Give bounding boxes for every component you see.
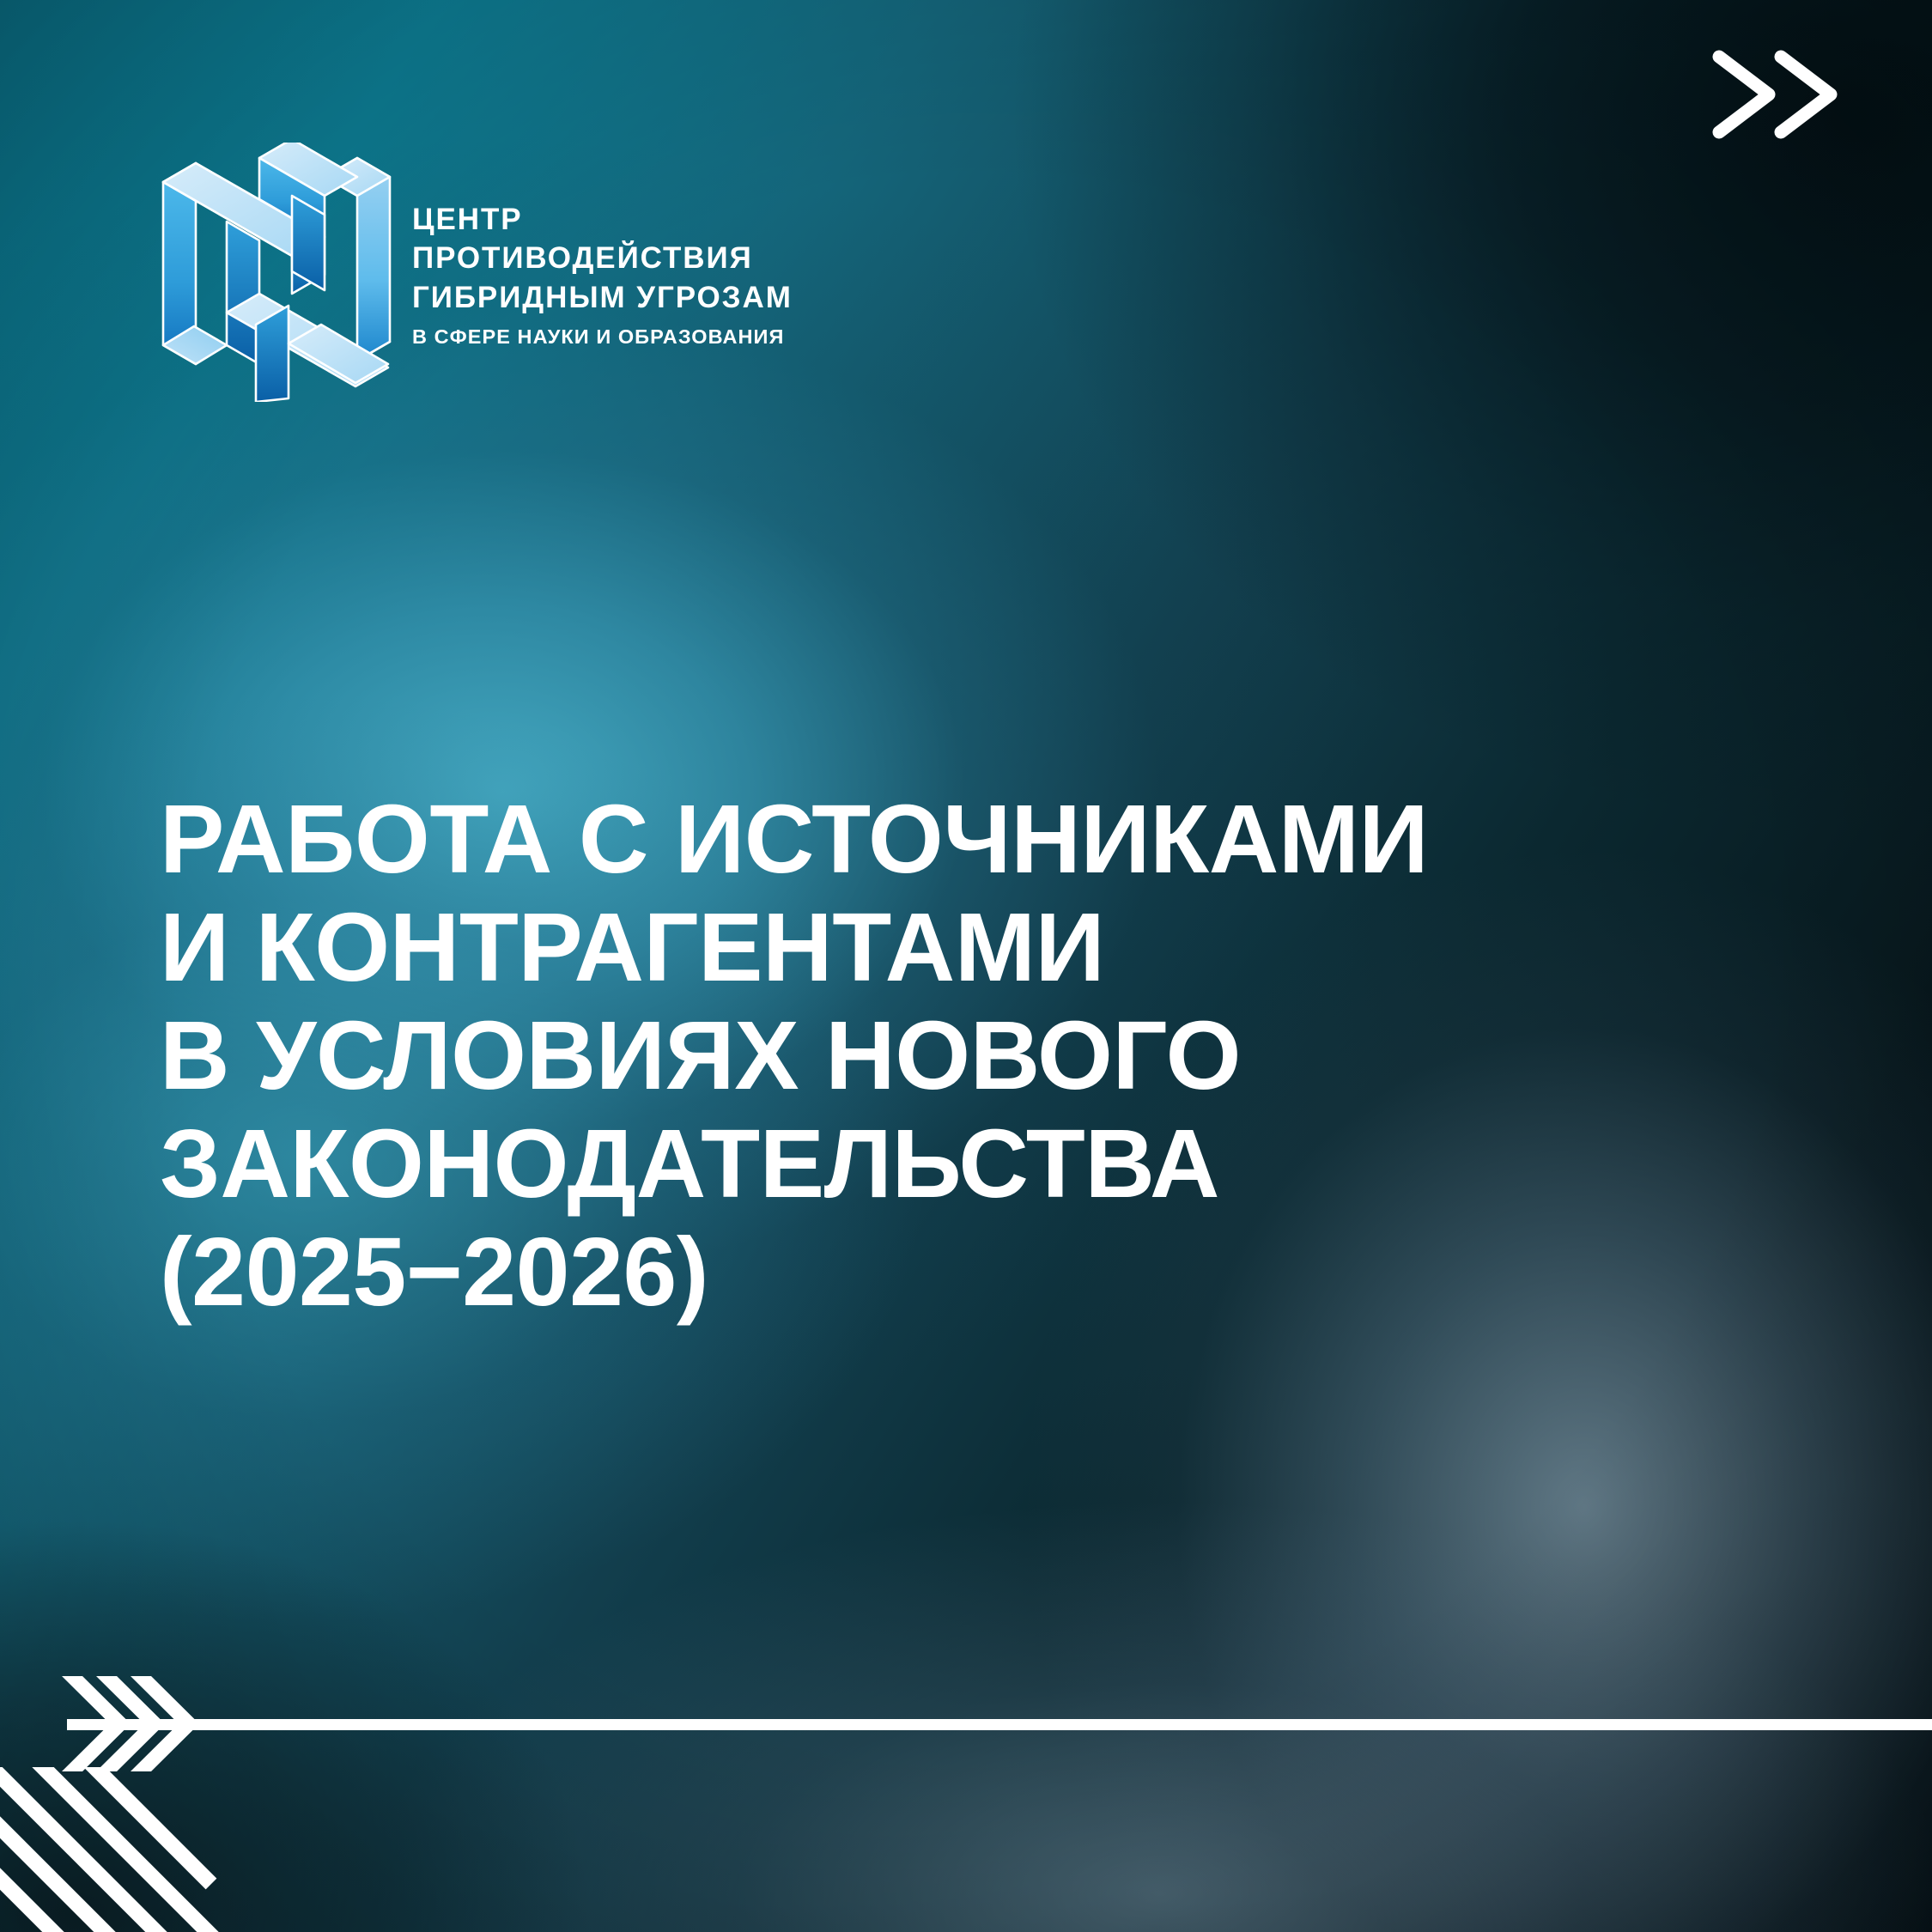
title-line-5: (2025−2026) [160,1218,1671,1326]
logo-mark [144,143,402,402]
isometric-interlocking-n-logo-icon [144,143,402,402]
logo-line-3: ГИБРИДНЫМ УГРОЗАМ [412,278,793,318]
next-slide-chevrons[interactable] [1707,39,1844,149]
double-chevron-right-icon [1707,39,1844,149]
logo-line-1: ЦЕНТР [412,200,793,240]
title-line-2: И КОНТРАГЕНТАМИ [160,893,1671,1001]
diagonal-stripes-decor-icon [0,1767,361,1932]
logo-subtitle: В СФЕРЕ НАУКИ И ОБРАЗОВАНИЯ [412,325,793,349]
diagonal-stripes-decoration [0,1767,361,1932]
title-line-4: ЗАКОНОДАТЕЛЬСТВА [160,1109,1671,1218]
brand-logo-lockup: ЦЕНТР ПРОТИВОДЕЙСТВИЯ ГИБРИДНЫМ УГРОЗАМ … [144,143,793,402]
slide-canvas: ЦЕНТР ПРОТИВОДЕЙСТВИЯ ГИБРИДНЫМ УГРОЗАМ … [0,0,1932,1932]
slide-title: РАБОТА С ИСТОЧНИКАМИ И КОНТРАГЕНТАМИ В У… [160,785,1671,1326]
title-line-1: РАБОТА С ИСТОЧНИКАМИ [160,785,1671,893]
logo-wordmark: ЦЕНТР ПРОТИВОДЕЙСТВИЯ ГИБРИДНЫМ УГРОЗАМ … [412,195,793,350]
logo-line-2: ПРОТИВОДЕЙСТВИЯ [412,239,793,278]
title-line-3: В УСЛОВИЯХ НОВОГО [160,1001,1671,1109]
